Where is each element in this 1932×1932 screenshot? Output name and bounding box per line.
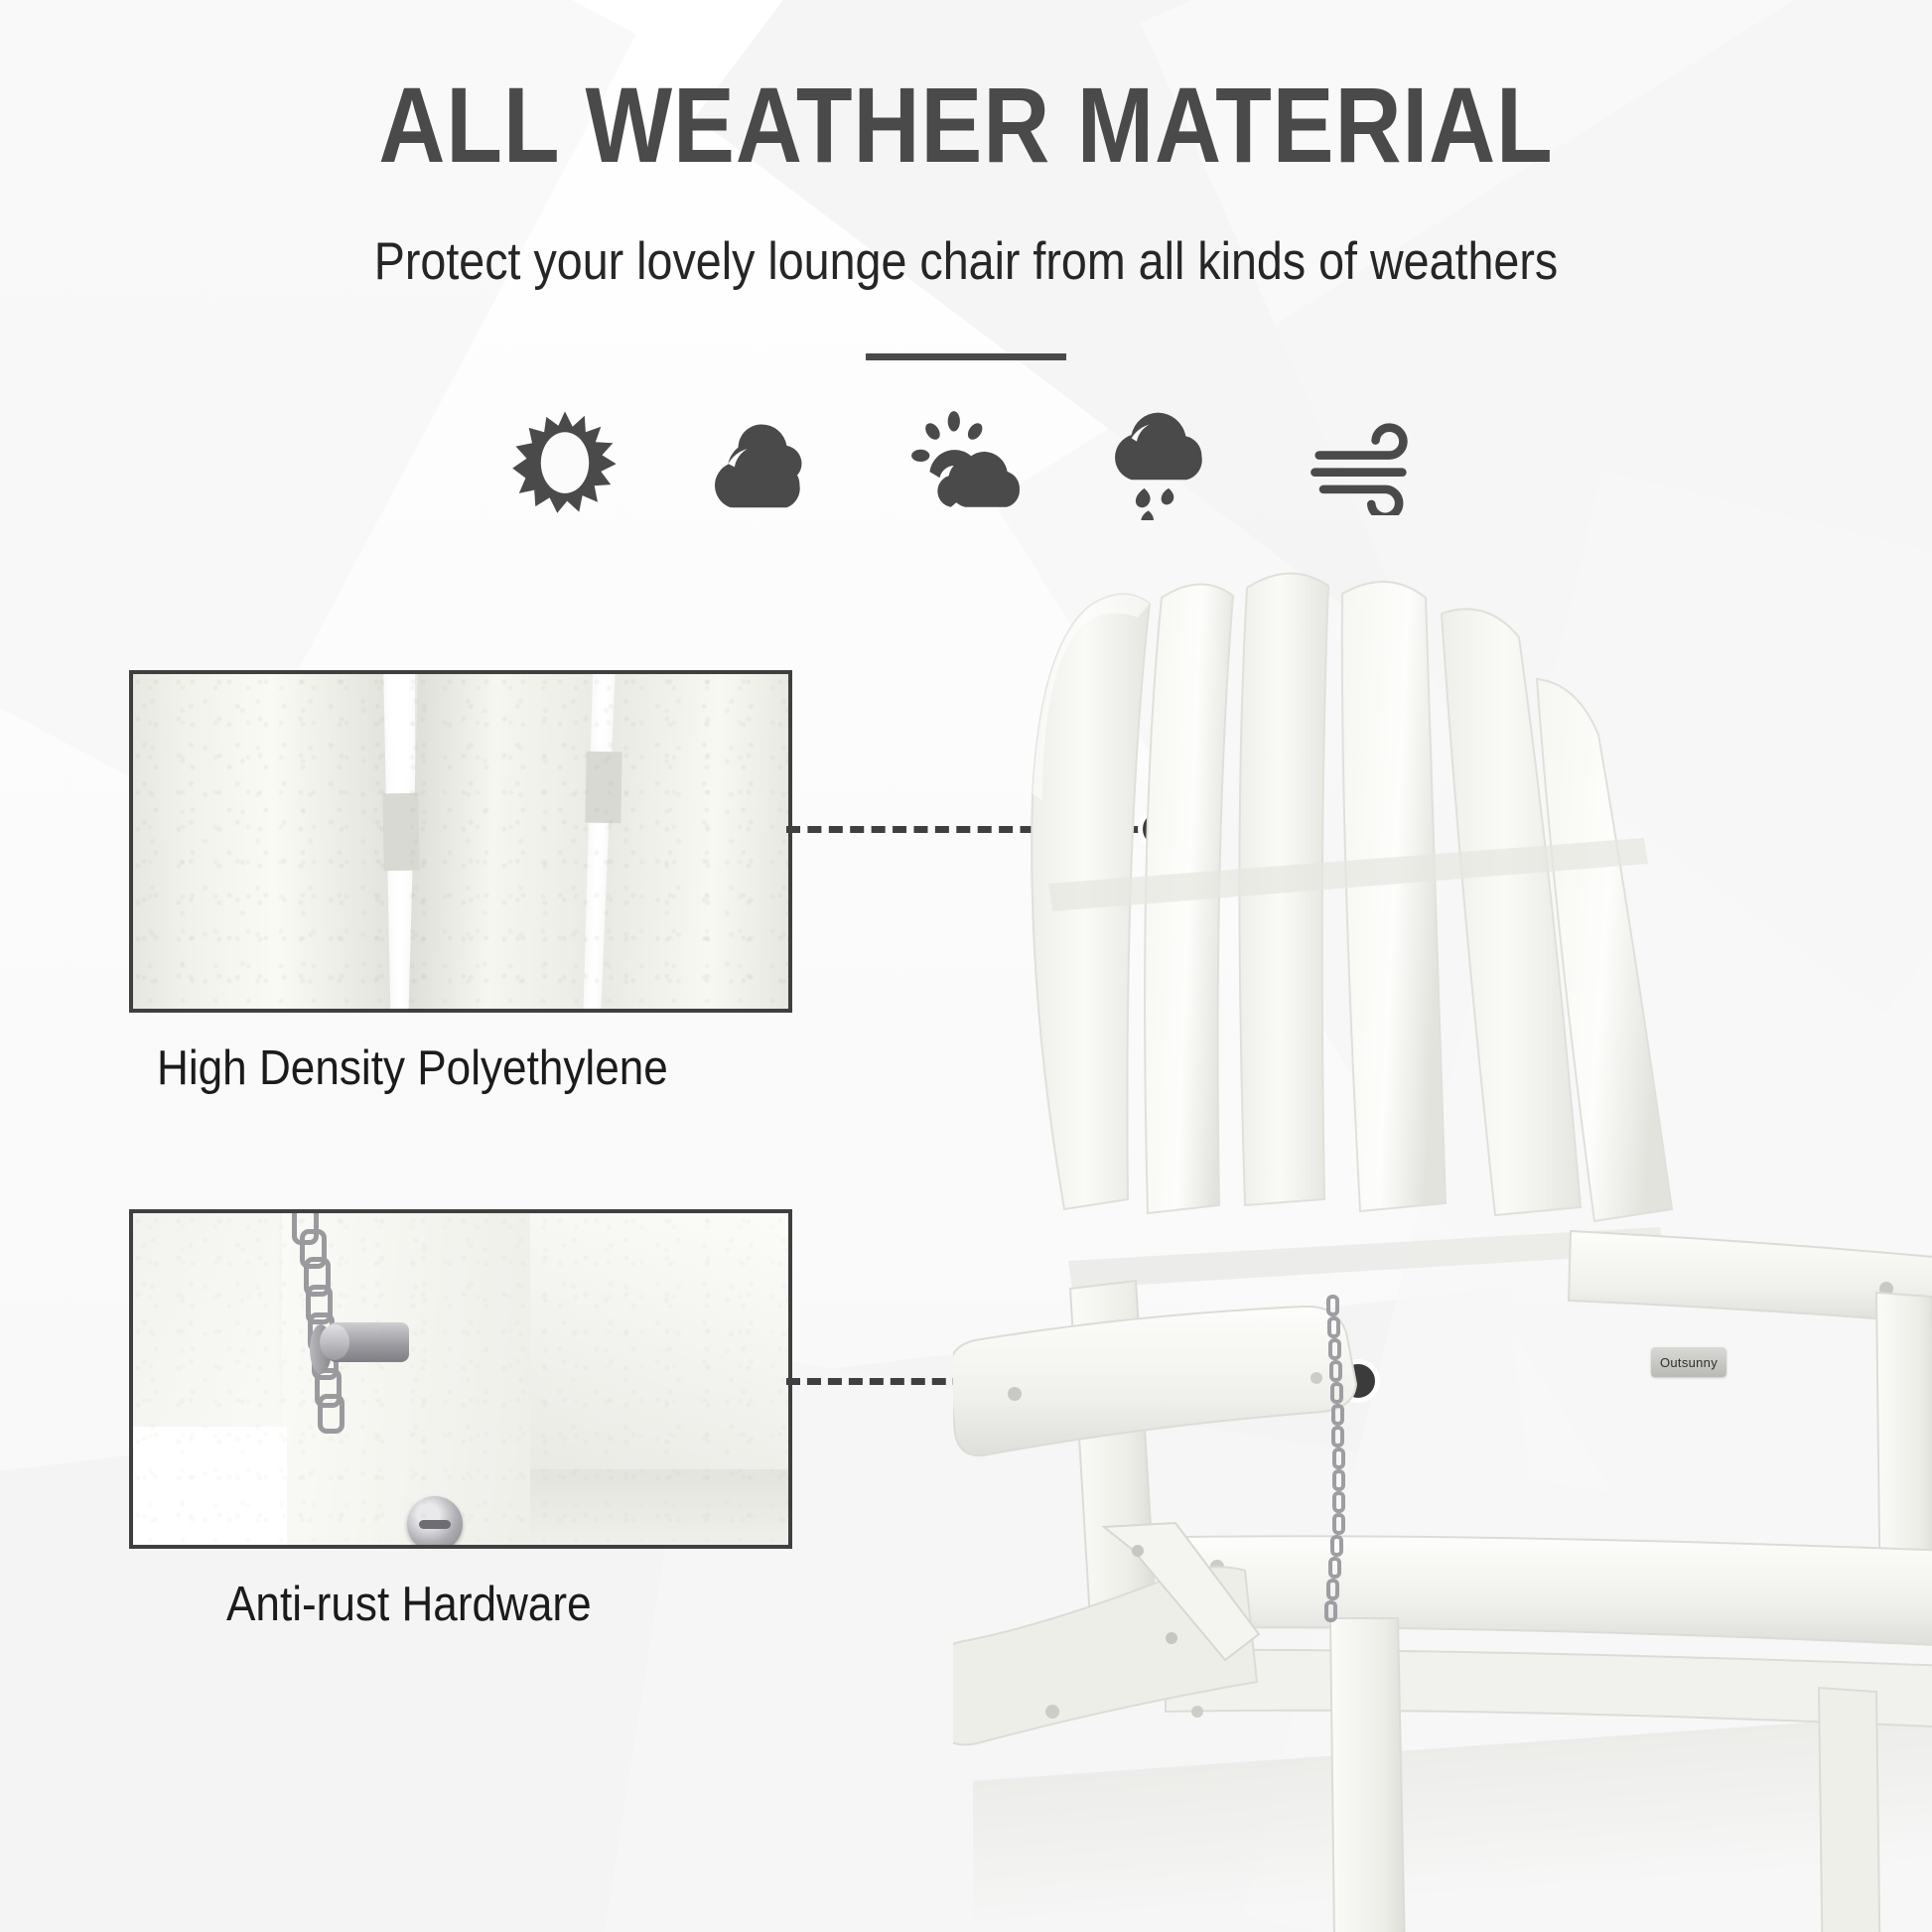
title-divider	[866, 353, 1066, 360]
product-image-chair	[953, 467, 1932, 1932]
sun-icon	[505, 402, 624, 521]
hdpe-slat-photo	[133, 674, 788, 1009]
feature-photo-hdpe	[129, 670, 792, 1013]
page-title: ALL WEATHER MATERIAL	[135, 71, 1797, 179]
feature-label-hardware: Anti-rust Hardware	[226, 1577, 592, 1632]
cloudy-icon	[706, 402, 825, 521]
brand-label: Outsunny	[1651, 1347, 1726, 1377]
infographic-canvas: ALL WEATHER MATERIAL Protect your lovely…	[0, 0, 1932, 1932]
feature-label-hdpe: High Density Polyethylene	[157, 1040, 668, 1096]
page-subtitle: Protect your lovely lounge chair from al…	[116, 233, 1816, 291]
feature-photo-hardware	[129, 1209, 792, 1549]
hardware-photo	[133, 1213, 788, 1545]
